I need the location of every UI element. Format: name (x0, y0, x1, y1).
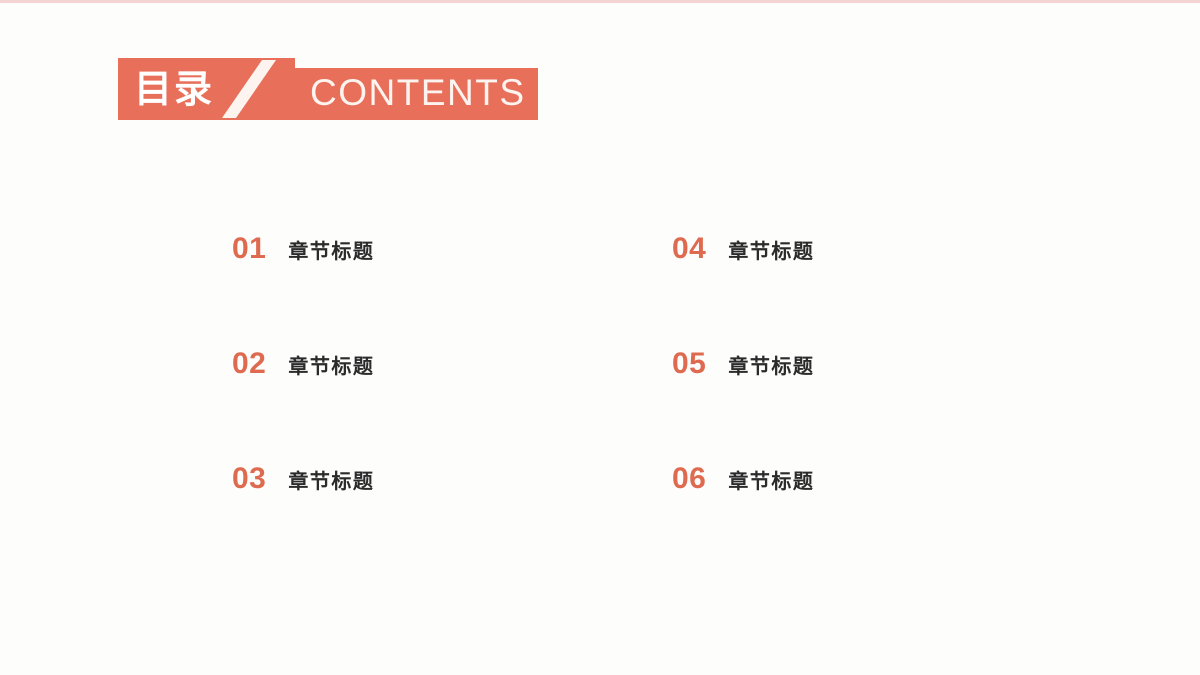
contents-row: 02 章节标题 05 章节标题 (0, 347, 1200, 462)
item-label: 章节标题 (288, 234, 374, 268)
contents-item-06[interactable]: 06 章节标题 (672, 462, 814, 498)
item-number: 02 (232, 347, 266, 381)
banner-title-chinese: 目录 (134, 67, 214, 111)
top-accent-rule (0, 0, 1200, 3)
contents-list: 01 章节标题 04 章节标题 02 章节标题 05 章节标题 03 章节标题 (0, 232, 1200, 577)
contents-row: 03 章节标题 06 章节标题 (0, 462, 1200, 577)
contents-item-04[interactable]: 04 章节标题 (672, 232, 814, 268)
contents-item-03[interactable]: 03 章节标题 (232, 462, 374, 498)
item-number: 04 (672, 232, 706, 266)
item-label: 章节标题 (288, 464, 374, 498)
contents-item-01[interactable]: 01 章节标题 (232, 232, 374, 268)
item-number: 01 (232, 232, 266, 266)
slide-canvas: 目录 CONTENTS 01 章节标题 04 章节标题 02 章节标题 (0, 0, 1200, 675)
item-number: 05 (672, 347, 706, 381)
contents-item-05[interactable]: 05 章节标题 (672, 347, 814, 383)
item-label: 章节标题 (728, 464, 814, 498)
item-label: 章节标题 (288, 349, 374, 383)
item-number: 03 (232, 462, 266, 496)
contents-row: 01 章节标题 04 章节标题 (0, 232, 1200, 347)
banner-title-english: CONTENTS (310, 72, 526, 114)
contents-header-banner: 目录 CONTENTS (118, 58, 538, 120)
item-number: 06 (672, 462, 706, 496)
item-label: 章节标题 (728, 234, 814, 268)
item-label: 章节标题 (728, 349, 814, 383)
contents-item-02[interactable]: 02 章节标题 (232, 347, 374, 383)
